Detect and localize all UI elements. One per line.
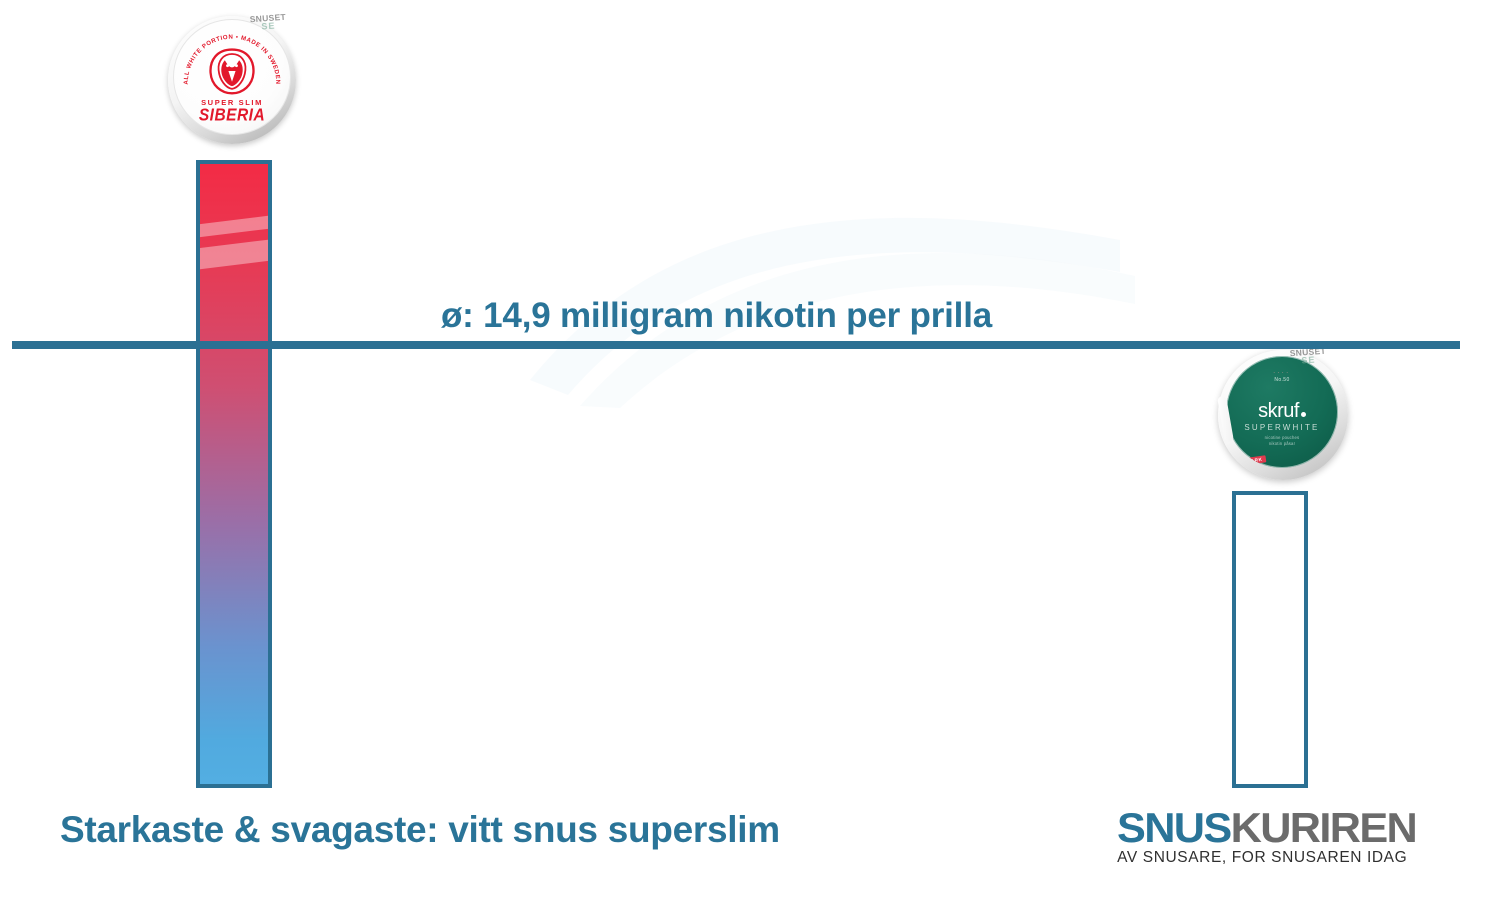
skruf-fine-print: nicotine pouches nikotin påsar <box>1226 435 1338 447</box>
skruf-fine-line-2: nikotin påsar <box>1226 441 1338 447</box>
skruf-sub-label: SUPERWHITE <box>1226 423 1338 432</box>
bar-siberia <box>196 160 272 788</box>
logo-tagline: AV SNUSARE, FOR SNUSAREN IDAG <box>1117 849 1407 867</box>
can-skruf-lid: .... No.50 skruf SUPERWHITE nicotine pou… <box>1226 356 1338 468</box>
can-skruf-watermark: SNUSET SE <box>1289 347 1326 365</box>
skruf-brand-text: skruf <box>1258 400 1299 422</box>
average-line <box>12 341 1460 349</box>
bar-skruf <box>1232 491 1308 788</box>
chart-canvas: ALL WHITE PORTION • MADE IN SWEDEN SUPER… <box>0 0 1500 900</box>
chart-title: Starkaste & svagaste: vitt snus supersli… <box>60 809 780 851</box>
logo-word-blue: SNUS <box>1117 804 1231 851</box>
snuskuriren-logo[interactable]: SNUSKURIREN AV SNUSARE, FOR SNUSAREN IDA… <box>1117 808 1407 867</box>
siberia-brand-label: SIBERIA <box>174 106 290 126</box>
bar-stripe-1 <box>200 214 268 239</box>
logo-word-gray: KURIREN <box>1231 804 1417 851</box>
can-siberia: ALL WHITE PORTION • MADE IN SWEDEN SUPER… <box>168 16 296 144</box>
skruf-number-label: No.50 <box>1226 377 1338 383</box>
can-siberia-lid: ALL WHITE PORTION • MADE IN SWEDEN SUPER… <box>173 19 291 135</box>
logo-wordmark: SNUSKURIREN <box>1117 808 1416 848</box>
skruf-brand-label: skruf <box>1226 400 1338 423</box>
can-skruf: .... No.50 skruf SUPERWHITE nicotine pou… <box>1218 350 1348 480</box>
background-watermark <box>520 180 1140 410</box>
bar-stripe-2 <box>200 238 268 270</box>
siberia-bear-icon <box>205 46 259 96</box>
skruf-strength-pips: .... <box>1226 369 1338 375</box>
average-line-label: ø: 14,9 milligram nikotin per prilla <box>441 296 992 336</box>
skruf-brand-dot-icon <box>1301 412 1306 417</box>
can-siberia-watermark: SNUSET SE <box>249 13 286 31</box>
bar-stripe-overlay <box>200 164 268 784</box>
